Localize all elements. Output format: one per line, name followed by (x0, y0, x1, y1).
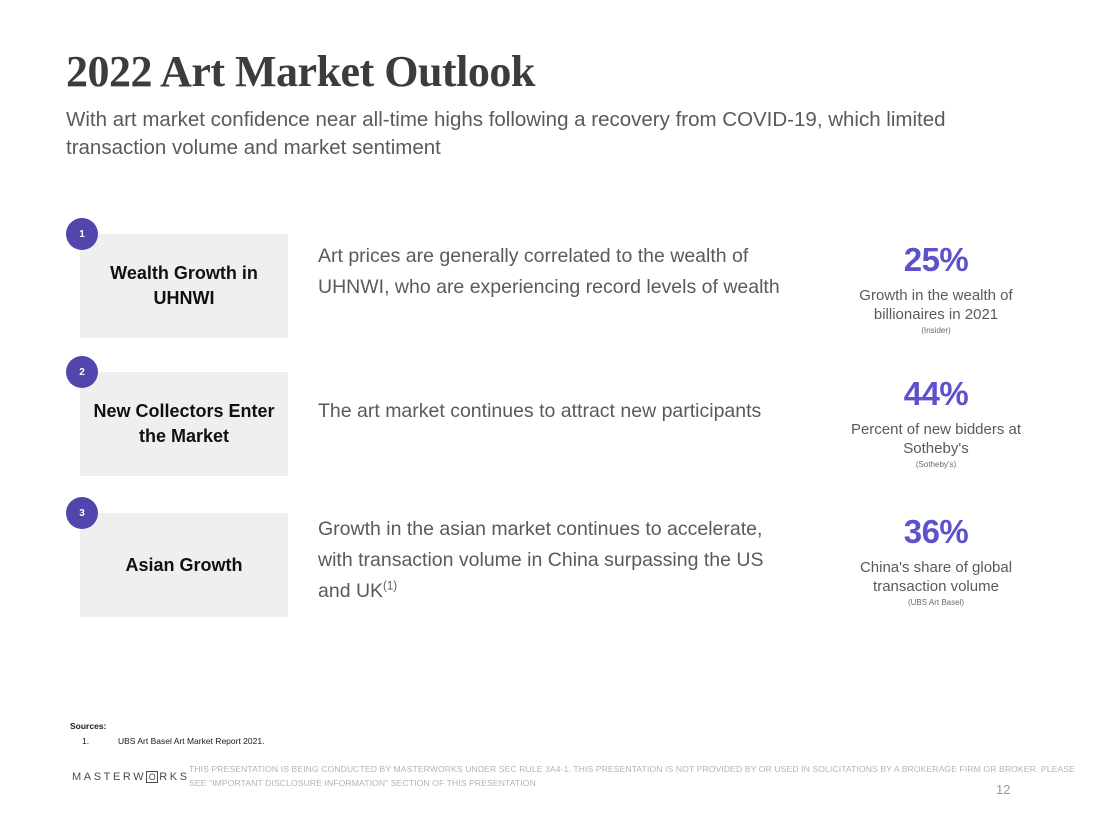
stat-description-3: China's share of global transaction volu… (830, 558, 1042, 596)
sources-block: Sources: 1. UBS Art Basel Art Market Rep… (70, 720, 264, 748)
pillar-description-1: Art prices are generally correlated to t… (318, 241, 788, 303)
stat-description-2: Percent of new bidders at Sotheby's (830, 420, 1042, 458)
sources-item-number: 1. (70, 735, 118, 748)
pillar-footnote-ref-3: (1) (383, 581, 397, 593)
logo-text-after: RKS (159, 771, 189, 783)
stat-description-1: Growth in the wealth of billionaires in … (830, 286, 1042, 324)
step-badge-2: 2 (66, 356, 98, 388)
sources-item: 1. UBS Art Basel Art Market Report 2021. (70, 735, 264, 748)
stat-value-3: 36% (830, 512, 1042, 552)
pillar-label-1: Wealth Growth in UHNWI (80, 261, 288, 311)
pillar-description-3: Growth in the asian market continues to … (318, 514, 788, 607)
pillar-label-box-3: Asian Growth (80, 513, 288, 617)
slide-canvas: 2022 Art Market Outlook With art market … (0, 0, 1100, 824)
pillar-label-box-2: New Collectors Enter the Market (80, 372, 288, 476)
stat-source-1: (Insider) (830, 326, 1042, 336)
step-badge-3: 3 (66, 497, 98, 529)
stat-source-2: (Sotheby's) (830, 460, 1042, 470)
page-number: 12 (996, 782, 1010, 797)
pillar-label-2: New Collectors Enter the Market (80, 399, 288, 449)
step-badge-1: 1 (66, 218, 98, 250)
page-title: 2022 Art Market Outlook (66, 46, 535, 98)
pillar-description-text-1: Art prices are generally correlated to t… (318, 245, 780, 298)
legal-disclaimer: THIS PRESENTATION IS BEING CONDUCTED BY … (189, 763, 1084, 790)
pillar-label-3: Asian Growth (115, 553, 252, 578)
stat-block-1: 25% Growth in the wealth of billionaires… (830, 240, 1042, 336)
stat-source-3: (UBS Art Basel) (830, 598, 1042, 608)
sources-heading: Sources: (70, 720, 264, 733)
stat-value-2: 44% (830, 374, 1042, 414)
stat-value-1: 25% (830, 240, 1042, 280)
sources-item-text: UBS Art Basel Art Market Report 2021. (118, 735, 264, 748)
logo-text-before: MASTERW (72, 771, 146, 783)
page-subtitle: With art market confidence near all-time… (66, 106, 1046, 162)
pillar-label-box-1: Wealth Growth in UHNWI (80, 234, 288, 338)
masterworks-logo: MASTERWORKS (72, 771, 190, 783)
pillar-description-text-2: The art market continues to attract new … (318, 400, 761, 422)
slide-footer: MASTERWORKS THIS PRESENTATION IS BEING C… (0, 758, 1100, 818)
stat-block-3: 36% China's share of global transaction … (830, 512, 1042, 608)
logo-boxed-o-icon: O (146, 771, 158, 783)
stat-block-2: 44% Percent of new bidders at Sotheby's … (830, 374, 1042, 470)
pillar-description-2: The art market continues to attract new … (318, 396, 788, 427)
